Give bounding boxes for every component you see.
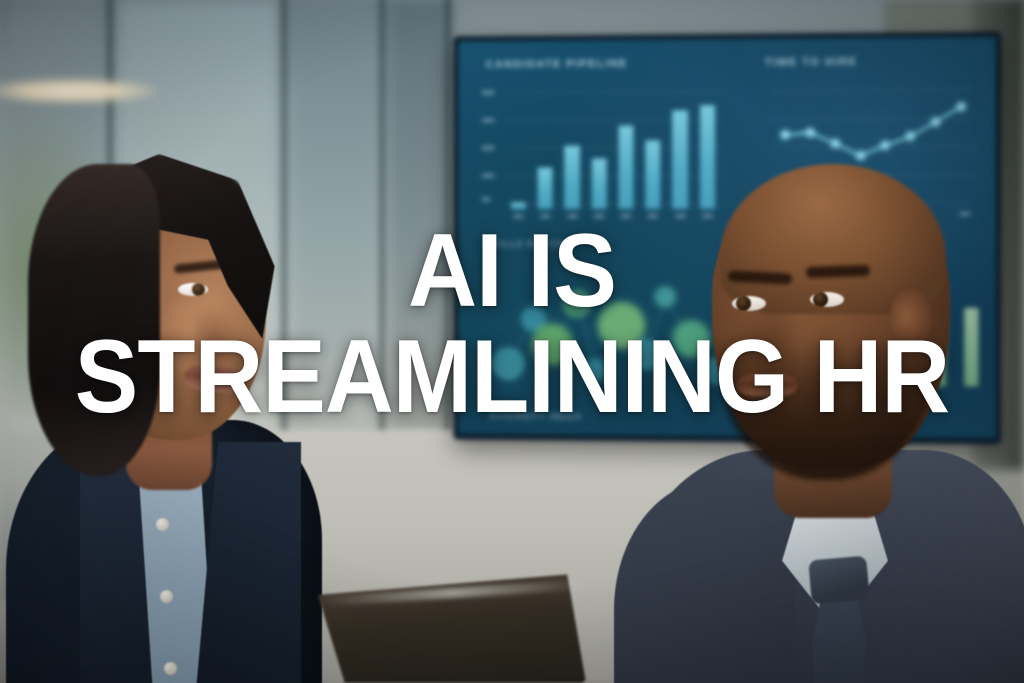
shirt-button [156, 518, 169, 531]
laptop [318, 570, 586, 683]
man-pupil [813, 292, 828, 307]
shirt-button [160, 590, 173, 603]
woman-nose [194, 306, 240, 360]
man-lips [736, 374, 798, 396]
woman-eye [178, 283, 208, 296]
woman-pupil [192, 283, 205, 296]
ceiling-light [0, 78, 156, 104]
woman-hair-side [28, 164, 160, 476]
person-man-right [624, 150, 1024, 683]
man-eyebrow [806, 265, 870, 278]
screenshot-scene: CANDIDATE PIPELINE TIME TO H [0, 0, 1024, 683]
man-shoulder [614, 480, 794, 683]
man-eye [810, 292, 844, 307]
shirt-button [164, 662, 177, 675]
man-tie-knot [808, 556, 870, 605]
person-woman-left [0, 120, 328, 683]
